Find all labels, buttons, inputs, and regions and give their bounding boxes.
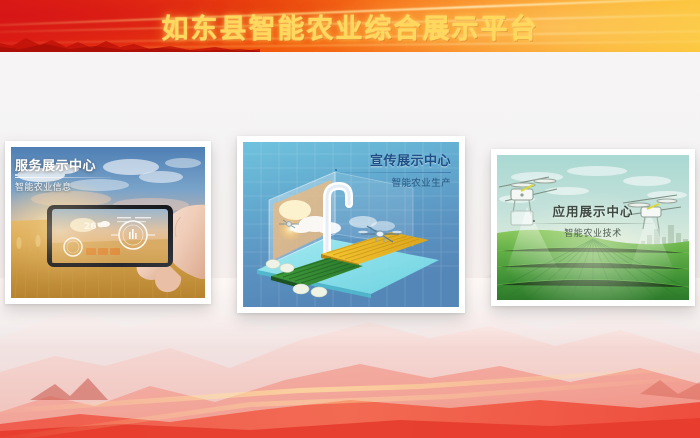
card-2-title: 宣传展示中心 (339, 150, 451, 169)
card-2-subtitle: 智能农业生产 (339, 175, 451, 189)
card-application-display-center[interactable]: 应用展示中心 智能农业技术 (491, 149, 695, 306)
card-1-divider-dot (15, 174, 17, 176)
card-1-subtitle: 智能农业信息 (15, 180, 111, 193)
card-1-title: 服务展示中心 (15, 155, 111, 174)
card-2-divider (339, 172, 451, 173)
card-3-subtitle: 智能农业技术 (491, 226, 695, 239)
card-service-display-center[interactable]: 26° 服务展示中心 智能农业信息 (5, 141, 211, 304)
card-3-title: 应用展示中心 (491, 201, 695, 220)
card-3-divider-dot (533, 220, 535, 222)
page-title: 如东县智能农业综合展示平台 (0, 7, 700, 46)
card-3-caption: 应用展示中心 智能农业技术 (491, 201, 695, 239)
card-2-caption: 宣传展示中心 智能农业生产 (339, 150, 451, 189)
card-2-divider-dot (335, 169, 337, 171)
card-1-caption: 服务展示中心 智能农业信息 (15, 155, 111, 193)
card-3-divider (533, 223, 653, 224)
card-promotion-display-center[interactable]: 宣传展示中心 智能农业生产 (237, 136, 465, 313)
page-header-banner: 如东县智能农业综合展示平台 (0, 0, 700, 52)
card-1-divider (15, 177, 111, 178)
